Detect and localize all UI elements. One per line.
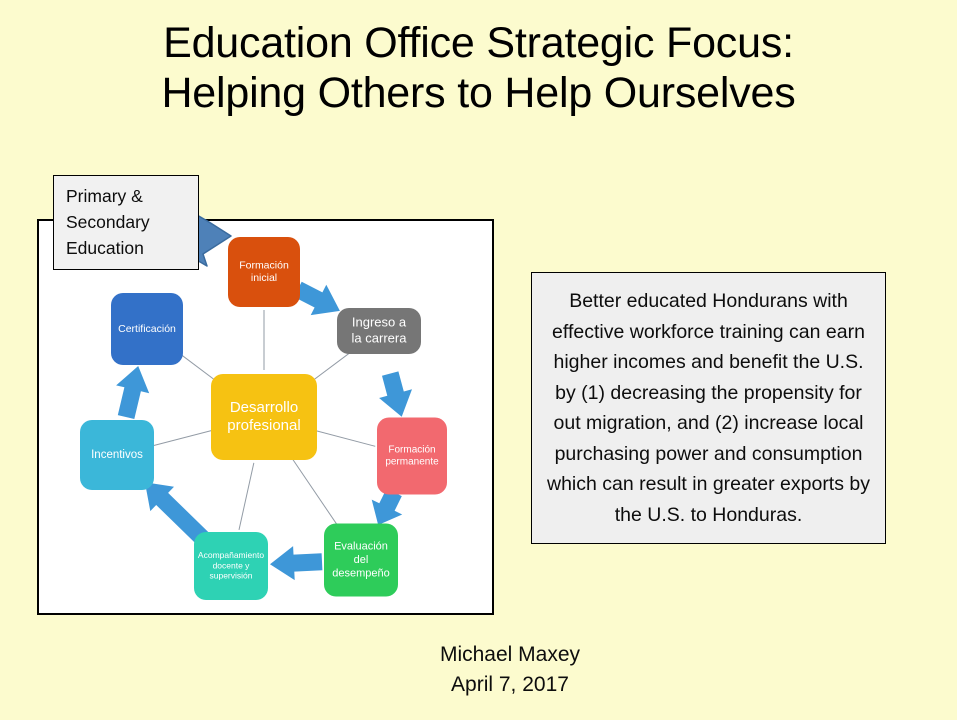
diagram-node-label: supervisión — [210, 571, 253, 581]
diagram-node-label: la carrera — [352, 330, 408, 345]
diagram-node-label: Formación — [239, 259, 289, 271]
page-title: Education Office Strategic Focus: Helpin… — [0, 18, 957, 118]
diagram-node-ingreso-a-la-carrera: Ingreso ala carrera — [337, 308, 421, 354]
diagram-node-formacion-permanente: Formaciónpermanente — [377, 418, 447, 495]
diagram-node-label: Certificación — [118, 323, 176, 335]
diagram-node-label: Incentivos — [91, 449, 143, 461]
diagram-node-label: Evaluación — [334, 540, 388, 552]
diagram-node-label: desempeño — [332, 567, 390, 579]
diagram-node-label: inicial — [251, 272, 277, 284]
diagram-node-label: Acompañamiento — [198, 550, 264, 560]
page-title-line-2: Helping Others to Help Ourselves — [0, 68, 957, 118]
narrative-text-box: Better educated Hondurans with effective… — [531, 272, 886, 544]
diagram-node-evaluacion-del-desempeno: Evaluacióndeldesempeño — [324, 524, 398, 597]
cycle-diagram: FormacióninicialIngreso ala carreraForma… — [37, 219, 494, 615]
footer-credit: Michael Maxey April 7, 2017 — [330, 640, 690, 700]
diagram-node-label: Desarrollo — [230, 399, 298, 416]
diagram-node-label: del — [354, 554, 369, 566]
footer-author: Michael Maxey — [330, 640, 690, 670]
callout-line-2: Secondary — [66, 209, 198, 235]
page-title-line-1: Education Office Strategic Focus: — [0, 18, 957, 68]
footer-date: April 7, 2017 — [330, 670, 690, 700]
diagram-node-label: permanente — [385, 457, 439, 468]
diagram-node-label: docente y — [213, 560, 251, 570]
diagram-node-label: profesional — [227, 417, 300, 434]
diagram-node-formacion-inicial: Formacióninicial — [228, 237, 300, 307]
diagram-node-acompanamiento-docente-y-supervision: Acompañamientodocente ysupervisión — [194, 532, 268, 600]
callout-primary-secondary-education: Primary & Secondary Education — [53, 175, 199, 270]
diagram-nodes: FormacióninicialIngreso ala carreraForma… — [80, 237, 447, 600]
callout-line-1: Primary & — [66, 183, 198, 209]
diagram-node-certificacion: Certificación — [111, 293, 183, 365]
diagram-node-label: Formación — [388, 445, 435, 456]
callout-line-3: Education — [66, 235, 198, 261]
diagram-node-label: Ingreso a — [352, 315, 407, 330]
cycle-diagram-canvas: FormacióninicialIngreso ala carreraForma… — [39, 221, 492, 613]
diagram-node-center: Desarrolloprofesional — [211, 374, 317, 460]
narrative-paragraph: Better educated Hondurans with effective… — [546, 286, 871, 530]
diagram-node-incentivos: Incentivos — [80, 420, 154, 490]
